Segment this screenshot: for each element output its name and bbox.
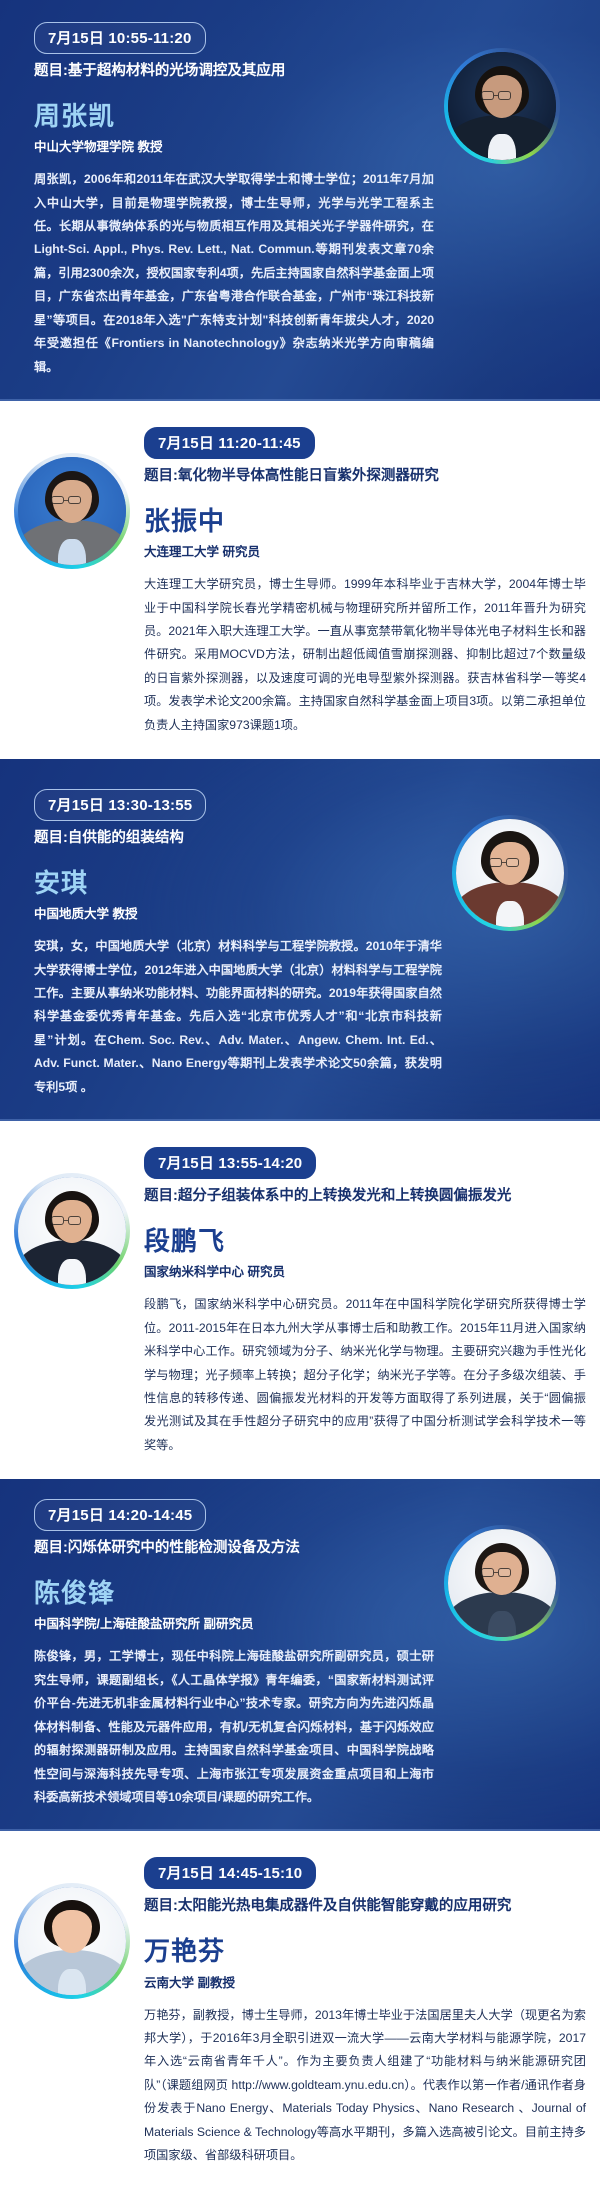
portrait-shirt (58, 539, 86, 565)
session-card-1-text: 7月15日 10:55-11:20 题目:基于超构材料的光场调控及其应用 周张凯… (34, 22, 434, 379)
avatar-wan-yanfen (14, 1883, 130, 1999)
session-topic: 题目:太阳能光热电集成器件及自供能智能穿戴的应用研究 (144, 1897, 586, 1917)
portrait-glasses-right (498, 91, 511, 100)
session-time-badge: 7月15日 14:20-14:45 (34, 1499, 206, 1531)
avatar-photo (448, 1529, 556, 1637)
session-time-badge: 7月15日 13:30-13:55 (34, 789, 206, 821)
avatar-photo (18, 1177, 126, 1285)
session-card-2-text: 7月15日 11:20-11:45 题目:氧化物半导体高性能日盲紫外探测器研究 … (142, 427, 586, 737)
avatar-column (452, 789, 568, 931)
speaker-affiliation: 中国地质大学 教授 (34, 903, 442, 922)
session-topic: 题目:闪烁体研究中的性能检测设备及方法 (34, 1539, 434, 1559)
avatar-photo (18, 1887, 126, 1995)
avatar-zhou-zhangkai (444, 48, 560, 164)
speaker-affiliation: 中国科学院/上海硅酸盐研究所 副研究员 (34, 1613, 434, 1632)
avatar-column (14, 1857, 130, 1999)
portrait-glasses-left (51, 1216, 64, 1225)
portrait-shirt (58, 1259, 86, 1285)
portrait-glasses-bridge (64, 1220, 67, 1222)
speaker-bio: 万艳芬，副教授，博士生导师，2013年博士毕业于法国居里夫人大学（现更名为索邦大… (144, 2004, 586, 2168)
avatar-an-qi (452, 815, 568, 931)
speaker-schedule-page: 7月15日 10:55-11:20 题目:基于超构材料的光场调控及其应用 周张凯… (0, 0, 600, 2190)
avatar-column (14, 1147, 130, 1289)
avatar-photo (456, 819, 564, 927)
speaker-bio: 大连理工大学研究员，博士生导师。1999年本科毕业于吉林大学，2004年博士毕业… (144, 573, 586, 737)
avatar-photo (18, 457, 126, 565)
speaker-name: 段鹏飞 (144, 1227, 586, 1256)
portrait-glasses-right (68, 496, 81, 505)
speaker-affiliation: 中山大学物理学院 教授 (34, 136, 434, 155)
session-card-4[interactable]: 7月15日 13:55-14:20 题目:超分子组装体系中的上转换发光和上转换圆… (0, 1121, 600, 1479)
session-time-badge: 7月15日 14:45-15:10 (144, 1857, 316, 1889)
session-topic: 题目:自供能的组装结构 (34, 829, 442, 849)
portrait-shirt (496, 901, 524, 927)
session-time-badge: 7月15日 10:55-11:20 (34, 22, 206, 54)
portrait-glasses-right (68, 1216, 81, 1225)
speaker-bio: 段鹏飞，国家纳米科学中心研究员。2011年在中国科学院化学研究所获得博士学位。2… (144, 1293, 586, 1457)
session-card-3-text: 7月15日 13:30-13:55 题目:自供能的组装结构 安琪 中国地质大学 … (34, 789, 442, 1099)
speaker-affiliation: 云南大学 副教授 (144, 1972, 586, 1991)
speaker-bio: 周张凯，2006年和2011年在武汉大学取得学士和博士学位；2011年7月加入中… (34, 168, 434, 379)
portrait-glasses-left (481, 91, 494, 100)
avatar-column (444, 22, 560, 164)
portrait-glasses-right (506, 858, 519, 867)
session-time-badge: 7月15日 11:20-11:45 (144, 427, 315, 459)
session-card-2[interactable]: 7月15日 11:20-11:45 题目:氧化物半导体高性能日盲紫外探测器研究 … (0, 401, 600, 759)
portrait-glasses-bridge (502, 862, 505, 864)
avatar-zhang-zhenzhong (14, 453, 130, 569)
session-card-5-text: 7月15日 14:20-14:45 题目:闪烁体研究中的性能检测设备及方法 陈俊… (34, 1499, 434, 1809)
speaker-name: 张振中 (144, 507, 586, 536)
avatar-column (444, 1499, 560, 1641)
session-card-6-text: 7月15日 14:45-15:10 题目:太阳能光热电集成器件及自供能智能穿戴的… (142, 1857, 586, 2167)
avatar-duan-pengfei (14, 1173, 130, 1289)
session-topic: 题目:基于超构材料的光场调控及其应用 (34, 62, 434, 82)
session-card-4-inner: 7月15日 13:55-14:20 题目:超分子组装体系中的上转换发光和上转换圆… (0, 1121, 600, 1479)
portrait-glasses-left (51, 496, 64, 505)
avatar-chen-junfeng (444, 1525, 560, 1641)
session-card-1[interactable]: 7月15日 10:55-11:20 题目:基于超构材料的光场调控及其应用 周张凯… (0, 0, 600, 401)
speaker-bio: 陈俊锋，男，工学博士，现任中科院上海硅酸盐研究所副研究员，硕士研究生导师，课题副… (34, 1645, 434, 1809)
speaker-name: 万艳芬 (144, 1937, 586, 1966)
speaker-affiliation: 国家纳米科学中心 研究员 (144, 1261, 586, 1280)
portrait-glasses-left (481, 1568, 494, 1577)
session-card-1-inner: 7月15日 10:55-11:20 题目:基于超构材料的光场调控及其应用 周张凯… (0, 0, 600, 401)
avatar-column (14, 427, 130, 569)
speaker-name: 周张凯 (34, 102, 434, 131)
session-card-3-inner: 7月15日 13:30-13:55 题目:自供能的组装结构 安琪 中国地质大学 … (0, 759, 600, 1121)
portrait-shirt (488, 1611, 516, 1637)
speaker-name: 陈俊锋 (34, 1579, 434, 1608)
portrait-glasses-bridge (494, 1572, 497, 1574)
speaker-affiliation: 大连理工大学 研究员 (144, 541, 586, 560)
portrait-shirt (488, 134, 516, 160)
session-card-5-inner: 7月15日 14:20-14:45 题目:闪烁体研究中的性能检测设备及方法 陈俊… (0, 1479, 600, 1831)
session-card-4-text: 7月15日 13:55-14:20 题目:超分子组装体系中的上转换发光和上转换圆… (142, 1147, 586, 1457)
session-card-3[interactable]: 7月15日 13:30-13:55 题目:自供能的组装结构 安琪 中国地质大学 … (0, 759, 600, 1121)
session-topic: 题目:超分子组装体系中的上转换发光和上转换圆偏振发光 (144, 1187, 586, 1207)
session-topic: 题目:氧化物半导体高性能日盲紫外探测器研究 (144, 467, 586, 487)
portrait-shirt (58, 1969, 86, 1995)
session-card-2-inner: 7月15日 11:20-11:45 题目:氧化物半导体高性能日盲紫外探测器研究 … (0, 401, 600, 759)
portrait-glasses-bridge (64, 500, 67, 502)
session-card-6-inner: 7月15日 14:45-15:10 题目:太阳能光热电集成器件及自供能智能穿戴的… (0, 1831, 600, 2189)
avatar-photo (448, 52, 556, 160)
speaker-name: 安琪 (34, 869, 442, 898)
session-card-5[interactable]: 7月15日 14:20-14:45 题目:闪烁体研究中的性能检测设备及方法 陈俊… (0, 1479, 600, 1831)
portrait-glasses-bridge (494, 95, 497, 97)
portrait-glasses-right (498, 1568, 511, 1577)
session-card-6[interactable]: 7月15日 14:45-15:10 题目:太阳能光热电集成器件及自供能智能穿戴的… (0, 1831, 600, 2189)
portrait-glasses-left (489, 858, 502, 867)
speaker-bio: 安琪，女，中国地质大学（北京）材料科学与工程学院教授。2010年于清华大学获得博… (34, 935, 442, 1099)
session-time-badge: 7月15日 13:55-14:20 (144, 1147, 316, 1179)
